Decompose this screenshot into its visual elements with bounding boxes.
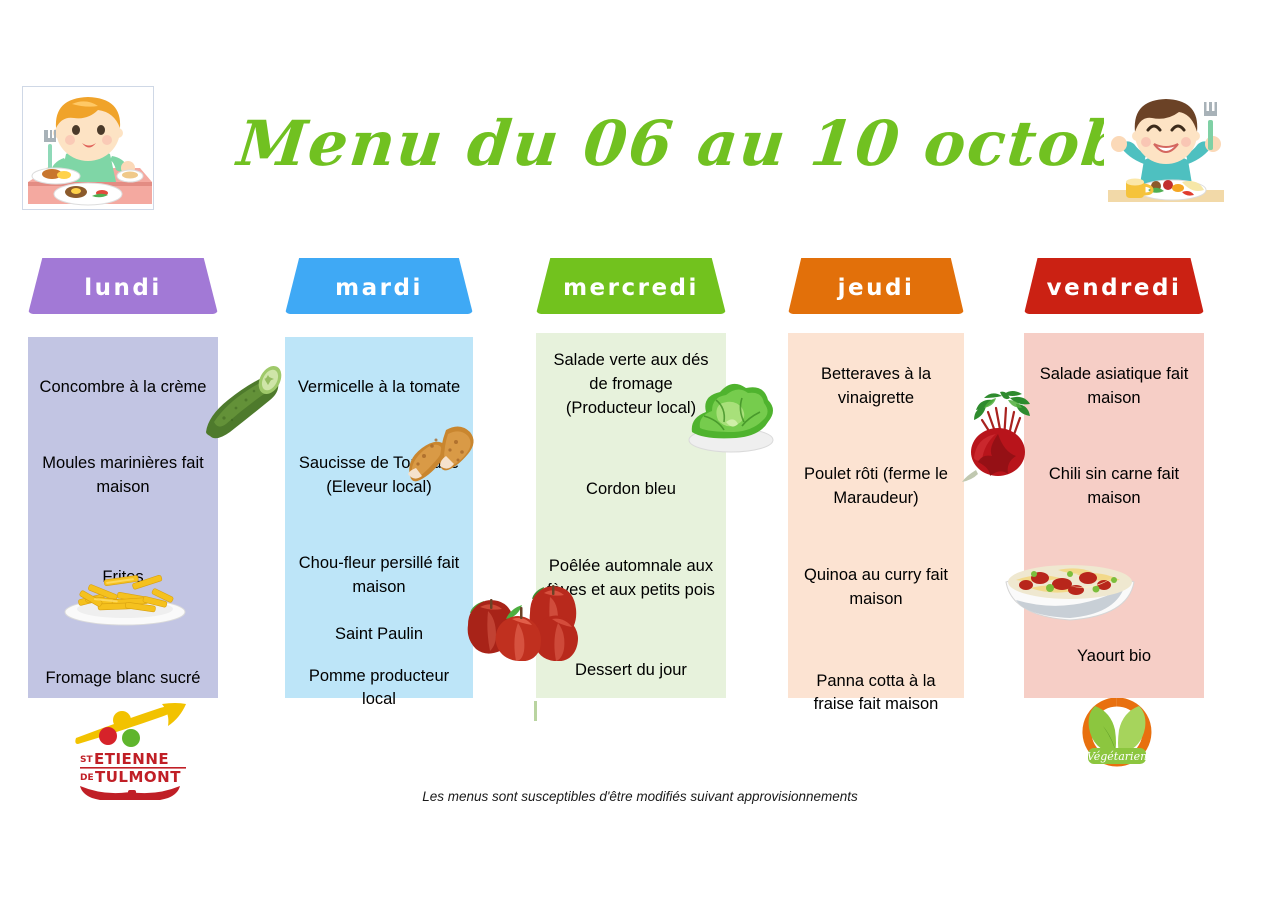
cucumber-icon (196, 358, 284, 440)
menu-column-jeudi: Betteraves à la vinaigrette Poulet rôti … (788, 333, 964, 698)
menu-item: Pomme producteur local (295, 665, 463, 713)
menu-item: Quinoa au curry fait maison (798, 564, 954, 612)
child-eating-meal-illustration (22, 86, 154, 210)
lettuce-icon (686, 382, 776, 456)
menu-item: Dessert du jour (546, 659, 716, 683)
town-logo-st: ST (80, 755, 93, 765)
day-label-jeudi: jeudi (788, 258, 964, 314)
menu-item: Chili sin carne fait maison (1034, 463, 1194, 511)
apples-icon (448, 573, 580, 661)
day-header-vendredi: vendredi (1024, 258, 1204, 314)
menu-item: Fromage blanc sucré (38, 667, 208, 691)
menu-item: Poulet rôti (ferme le Maraudeur) (798, 463, 954, 511)
day-header-mardi: mardi (285, 258, 473, 314)
town-logo-de: DE (80, 773, 94, 783)
day-header-lundi: lundi (28, 258, 218, 314)
page-title: Menu du 06 au 10 octobre (234, 104, 1022, 184)
chili-bowl-icon (1000, 552, 1140, 626)
menu-item: Concombre à la crème (38, 376, 208, 400)
day-label-mercredi: mercredi (536, 258, 726, 314)
day-label-mardi: mardi (285, 258, 473, 314)
town-logo-tulmont: TULMONT (95, 768, 181, 786)
french-fries-icon (60, 562, 190, 626)
vegetarian-logo: Végétarien (1062, 698, 1172, 770)
menu-column-vendredi: Salade asiatique fait maison Chili sin c… (1024, 333, 1204, 698)
town-logo-etienne: ETIENNE (94, 750, 169, 768)
menu-item: Salade asiatique fait maison (1034, 363, 1194, 411)
menu-item: Betteraves à la vinaigrette (798, 363, 954, 411)
day-header-jeudi: jeudi (788, 258, 964, 314)
menu-item: Cordon bleu (546, 478, 716, 502)
menu-item: Panna cotta à la fraise fait maison (798, 670, 954, 718)
menu-item: Chou-fleur persillé fait maison (295, 552, 463, 600)
menu-item: Moules marinières fait maison (38, 452, 208, 500)
menu-column-mardi: Vermicelle à la tomate Saucisse de Toulo… (285, 337, 473, 698)
stray-mark (534, 701, 537, 721)
menu-item: Saint Paulin (295, 623, 463, 647)
menu-column-lundi: Concombre à la crème Moules marinières f… (28, 337, 218, 698)
sausages-icon (402, 418, 478, 488)
menu-item: Vermicelle à la tomate (295, 376, 463, 400)
day-label-lundi: lundi (28, 258, 218, 314)
boy-with-fork-illustration (1104, 86, 1228, 210)
vegetarian-logo-label: Végétarien (1087, 750, 1147, 763)
day-label-vendredi: vendredi (1024, 258, 1204, 314)
beetroot-icon (960, 390, 1040, 482)
menu-item: Yaourt bio (1034, 645, 1194, 669)
day-header-mercredi: mercredi (536, 258, 726, 314)
town-logo-st-etienne-de-tulmont: ST ETIENNE DE TULMONT (62, 700, 202, 800)
